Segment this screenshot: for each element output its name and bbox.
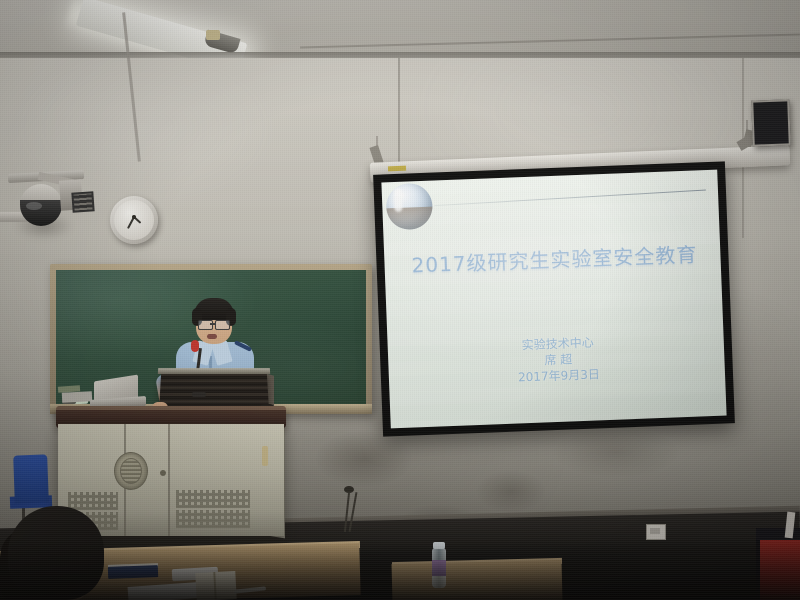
podium-vent-1 [68,492,118,510]
presenter-mouth [207,334,217,339]
wall-seam [398,58,400,178]
podium-panel-edge [158,368,270,374]
blue-chair [13,454,49,503]
fluorescent-tube-clip [206,30,220,40]
university-emblem-inner [120,458,142,484]
screen-banding [381,170,726,429]
wall-speaker-icon [751,99,791,146]
camera-dome-highlight [26,202,42,210]
power-outlet-slots [650,528,660,534]
clock-face [114,200,154,240]
podium-door-seam-2 [168,424,170,536]
sensor-grille [73,193,92,210]
glasses-icon [198,320,213,330]
glasses-lens-right [215,320,230,330]
podium-vent-4 [176,510,250,528]
podium-item-tray [62,391,92,403]
podium-desktop-highlight [56,406,286,410]
lecture-hall-photo: 2017级研究生实验室安全教育 实验技术中心 席 超 2017年9月3日 [0,0,800,600]
podium-handle [262,446,268,466]
glasses-bridge [210,323,216,325]
foreground-shadow [0,540,800,600]
microphone-base [192,392,206,397]
clock-center-pin [132,215,136,219]
podium-lock-knob [160,470,166,476]
screen-housing-label [388,166,406,172]
microphone-icon [191,340,199,352]
podium-vent-3 [176,490,250,508]
